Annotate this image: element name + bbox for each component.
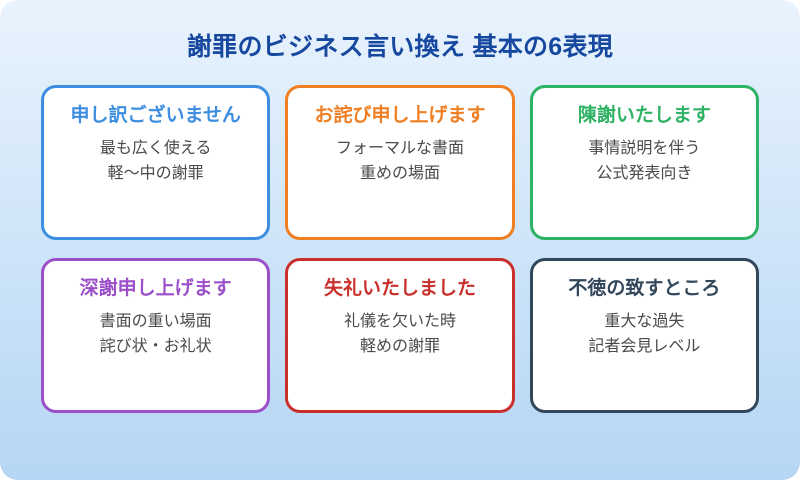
phrase-card-description: 重大な過失 記者会見レベル <box>541 310 748 360</box>
phrase-card-title: 失礼いたしました <box>296 277 503 301</box>
phrase-card-description: 書面の重い場面 詫び状・お礼状 <box>52 310 259 360</box>
phrase-card: 不徳の致すところ 重大な過失 記者会見レベル <box>530 258 759 413</box>
page-title: 謝罪のビジネス言い換え 基本の6表現 <box>41 0 759 63</box>
phrase-card-title: 深謝申し上げます <box>52 277 259 301</box>
phrase-card-title: 不徳の致すところ <box>541 277 748 301</box>
phrase-card-title: お詫び申し上げます <box>296 104 503 128</box>
phrase-card: 失礼いたしました 礼儀を欠いた時 軽めの謝罪 <box>285 258 514 413</box>
phrase-card: 申し訳ございません 最も広く使える 軽〜中の謝罪 <box>41 85 270 240</box>
phrase-card-title: 申し訳ございません <box>52 104 259 128</box>
phrase-card-grid: 申し訳ございません 最も広く使える 軽〜中の謝罪 お詫び申し上げます フォーマル… <box>41 85 759 413</box>
phrase-card-description: 事情説明を伴う 公式発表向き <box>541 137 748 187</box>
phrase-card-title: 陳謝いたします <box>541 104 748 128</box>
phrase-card-description: フォーマルな書面 重めの場面 <box>296 137 503 187</box>
infographic-canvas: 謝罪のビジネス言い換え 基本の6表現 申し訳ございません 最も広く使える 軽〜中… <box>0 0 800 480</box>
phrase-card-description: 礼儀を欠いた時 軽めの謝罪 <box>296 310 503 360</box>
phrase-card: お詫び申し上げます フォーマルな書面 重めの場面 <box>285 85 514 240</box>
phrase-card: 深謝申し上げます 書面の重い場面 詫び状・お礼状 <box>41 258 270 413</box>
phrase-card-description: 最も広く使える 軽〜中の謝罪 <box>52 137 259 187</box>
phrase-card: 陳謝いたします 事情説明を伴う 公式発表向き <box>530 85 759 240</box>
